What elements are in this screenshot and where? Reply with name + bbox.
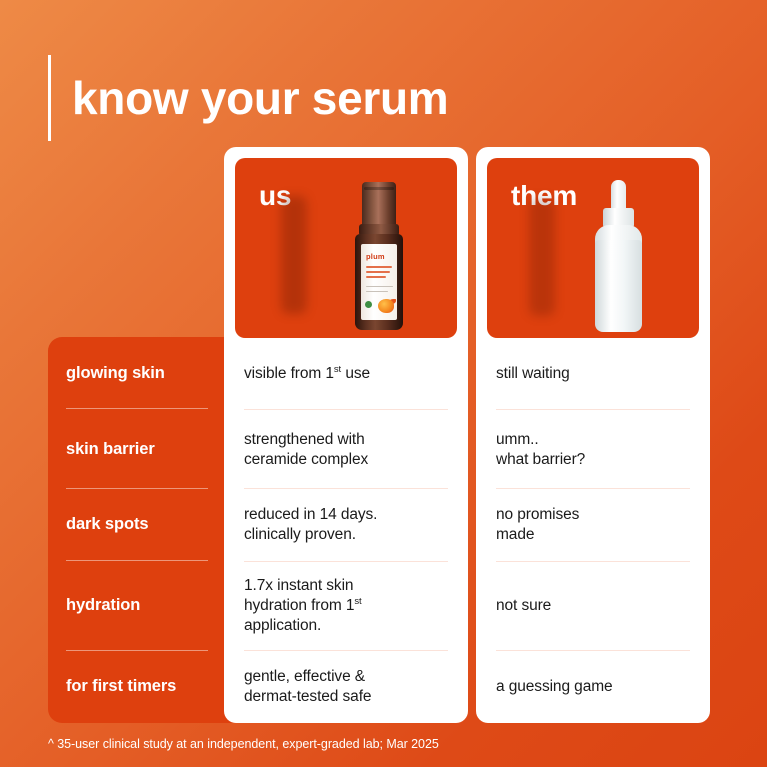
column-card-us: us plum visible fr [224,147,468,723]
feature-label-row: hydration [66,561,216,651]
cell-text: strengthened withceramide complex [244,430,368,470]
feature-label-row: glowing skin [66,337,216,409]
bottle-shadow [281,196,307,314]
label-text-line [366,266,392,268]
comparison-cell-us: strengthened withceramide complex [244,410,448,489]
feature-label-panel: glowing skinskin barrierdark spotshydrat… [48,337,234,723]
eco-badge-icon [365,301,372,308]
comparison-cell-them: not sure [496,562,690,651]
feature-label: dark spots [66,515,148,534]
column-card-them: them still waitingumm..what barrier?no p… [476,147,710,723]
product-header-us: us plum [235,158,457,338]
feature-label: for first timers [66,677,176,696]
label-fruit-graphic [378,299,394,313]
comparison-cell-them: still waiting [496,338,690,410]
bottle-body [595,240,642,332]
title-accent-rule [48,55,51,141]
infographic-canvas: know your serum glowing skinskin barrier… [0,0,767,767]
feature-label: glowing skin [66,364,165,383]
comparison-cell-us: 1.7x instant skinhydration from 1stappli… [244,562,448,651]
comparison-cell-them: a guessing game [496,651,690,723]
label-text-line [366,276,386,278]
cell-text: 1.7x instant skinhydration from 1stappli… [244,576,362,636]
bottle-cap-ridge [364,187,394,190]
plum-wordmark: plum [366,253,385,261]
feature-label: skin barrier [66,440,155,459]
page-title-block: know your serum [48,55,448,141]
cell-text: still waiting [496,364,570,384]
footnote: ^ 35-user clinical study at an independe… [48,737,439,751]
comparison-cell-them: umm..what barrier? [496,410,690,489]
label-text-line [366,286,393,287]
plum-serum-bottle-icon: plum [348,182,410,330]
ordinal-suffix: st [354,596,361,607]
cell-text: not sure [496,596,551,616]
page-title: know your serum [72,75,448,121]
feature-label-row: dark spots [66,489,216,561]
comparison-cell-them: no promisesmade [496,489,690,561]
product-header-them: them [487,158,699,338]
cell-text: umm..what barrier? [496,430,585,470]
bottle-shadow [529,198,555,316]
feature-label-row: skin barrier [66,409,216,489]
cell-text: a guessing game [496,677,613,697]
generic-white-dropper-bottle-icon [591,180,649,332]
comparison-cell-us: visible from 1st use [244,338,448,410]
cell-text: gentle, effective &dermat-tested safe [244,667,371,707]
ordinal-suffix: st [334,364,341,375]
cell-text: visible from 1st use [244,364,370,384]
label-text-line [366,271,390,273]
comparison-cells-us: visible from 1st usestrengthened withcer… [224,338,468,723]
label-text-line [366,291,388,292]
feature-label-row: for first timers [66,651,216,723]
cell-text: reduced in 14 days.clinically proven. [244,505,377,545]
comparison-cells-them: still waitingumm..what barrier?no promis… [476,338,710,723]
comparison-cell-us: reduced in 14 days.clinically proven. [244,489,448,561]
bottle-label: plum [361,244,397,320]
comparison-cell-us: gentle, effective &dermat-tested safe [244,651,448,723]
feature-label: hydration [66,596,140,615]
cell-text: no promisesmade [496,505,579,545]
